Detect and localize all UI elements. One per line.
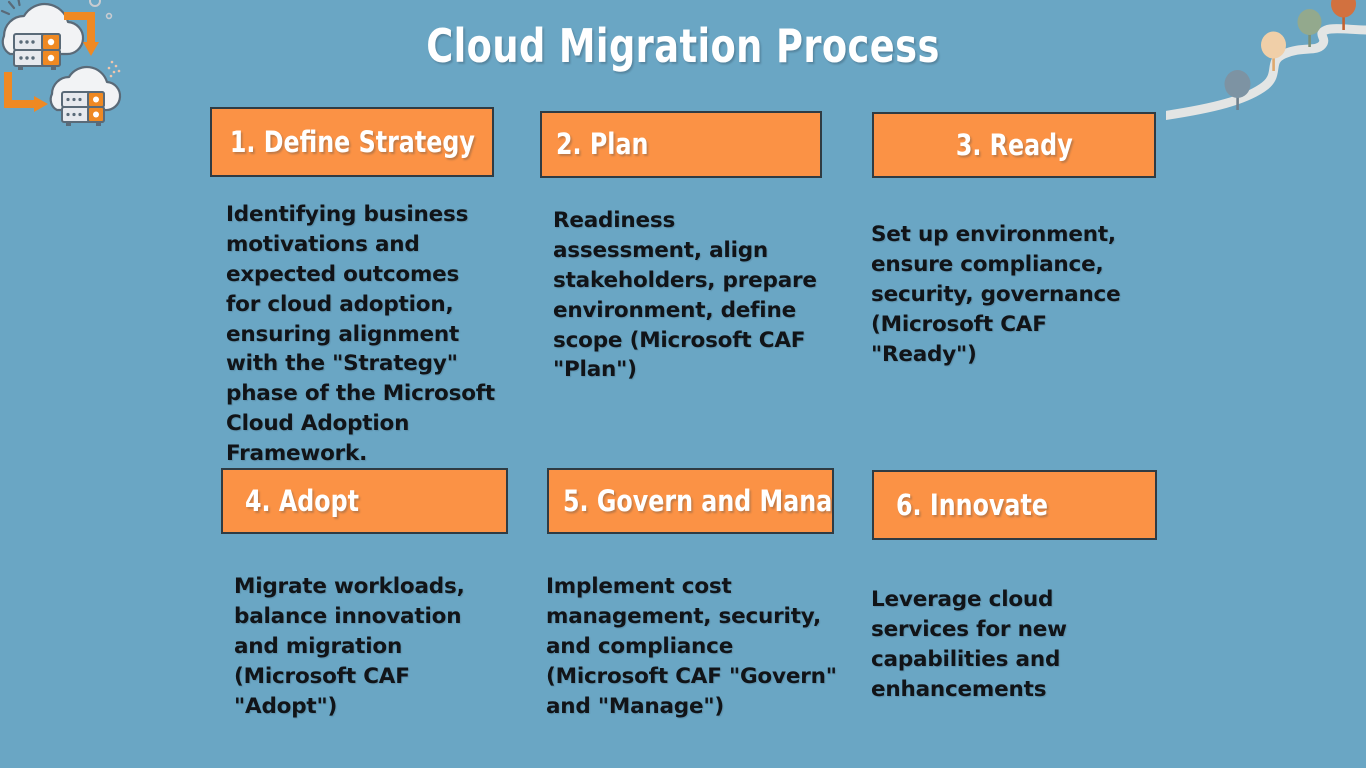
step-body-govern-and-manage: Implement cost management, security, and… xyxy=(546,572,846,721)
step-header-label: 4. Adopt xyxy=(245,487,359,516)
step-card-define-strategy: 1. Define Strategy xyxy=(210,107,494,177)
step-header-ready[interactable]: 3. Ready xyxy=(872,112,1156,178)
step-body-ready: Set up environment, ensure compliance, s… xyxy=(871,220,1159,369)
step-body-plan: Readiness assessment, align stakeholders… xyxy=(553,206,829,385)
step-header-label: 5. Govern and Manage xyxy=(563,487,834,516)
step-header-define-strategy[interactable]: 1. Define Strategy xyxy=(210,107,494,177)
step-header-label: 3. Ready xyxy=(956,131,1073,160)
step-card-adopt: 4. Adopt xyxy=(221,468,508,534)
step-header-innovate[interactable]: 6. Innovate xyxy=(872,470,1157,540)
step-header-label: 2. Plan xyxy=(556,130,648,159)
step-card-plan: 2. Plan xyxy=(540,111,822,178)
step-header-adopt[interactable]: 4. Adopt xyxy=(221,468,508,534)
step-header-plan[interactable]: 2. Plan xyxy=(540,111,822,178)
step-card-govern-and-manage: 5. Govern and Manage xyxy=(547,468,834,534)
step-card-innovate: 6. Innovate xyxy=(872,470,1157,540)
step-header-label: 1. Define Strategy xyxy=(230,128,475,157)
step-card-ready: 3. Ready xyxy=(872,112,1156,178)
slide-canvas: Cloud Migration Process 1. Define Strate… xyxy=(0,0,1366,768)
step-header-label: 6. Innovate xyxy=(896,491,1048,520)
steps-grid: 1. Define Strategy Identifying business … xyxy=(0,0,1366,768)
step-body-define-strategy: Identifying business motivations and exp… xyxy=(226,200,498,469)
step-body-innovate: Leverage cloud services for new capabili… xyxy=(871,585,1151,705)
step-body-adopt: Migrate workloads, balance innovation an… xyxy=(234,572,510,721)
step-header-govern-and-manage[interactable]: 5. Govern and Manage xyxy=(547,468,834,534)
